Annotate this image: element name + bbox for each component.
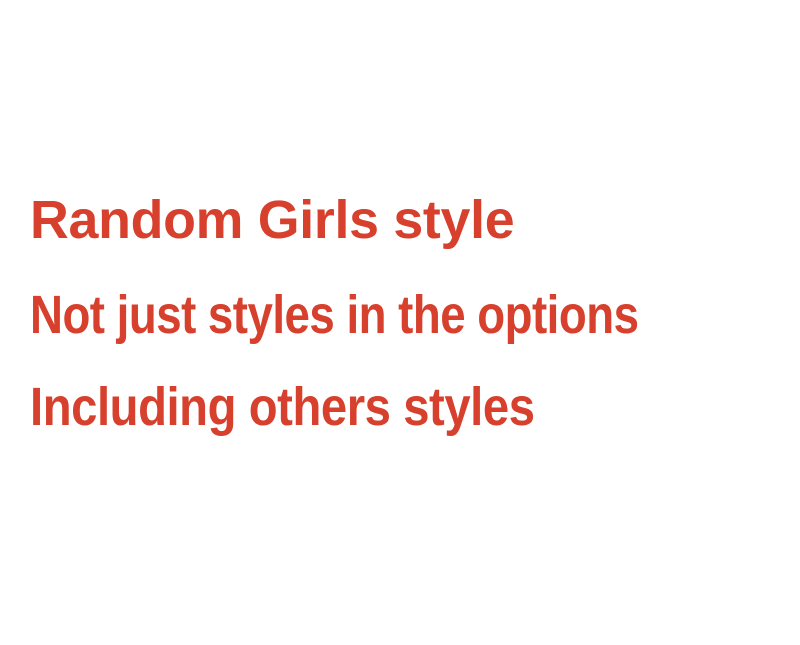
headline-line-1: Random Girls style	[30, 193, 514, 247]
headline-line-2: Not just styles in the options	[30, 288, 638, 342]
text-graphic-canvas: Random Girls style Not just styles in th…	[0, 0, 800, 645]
headline-line-3: Including others styles	[30, 380, 535, 434]
